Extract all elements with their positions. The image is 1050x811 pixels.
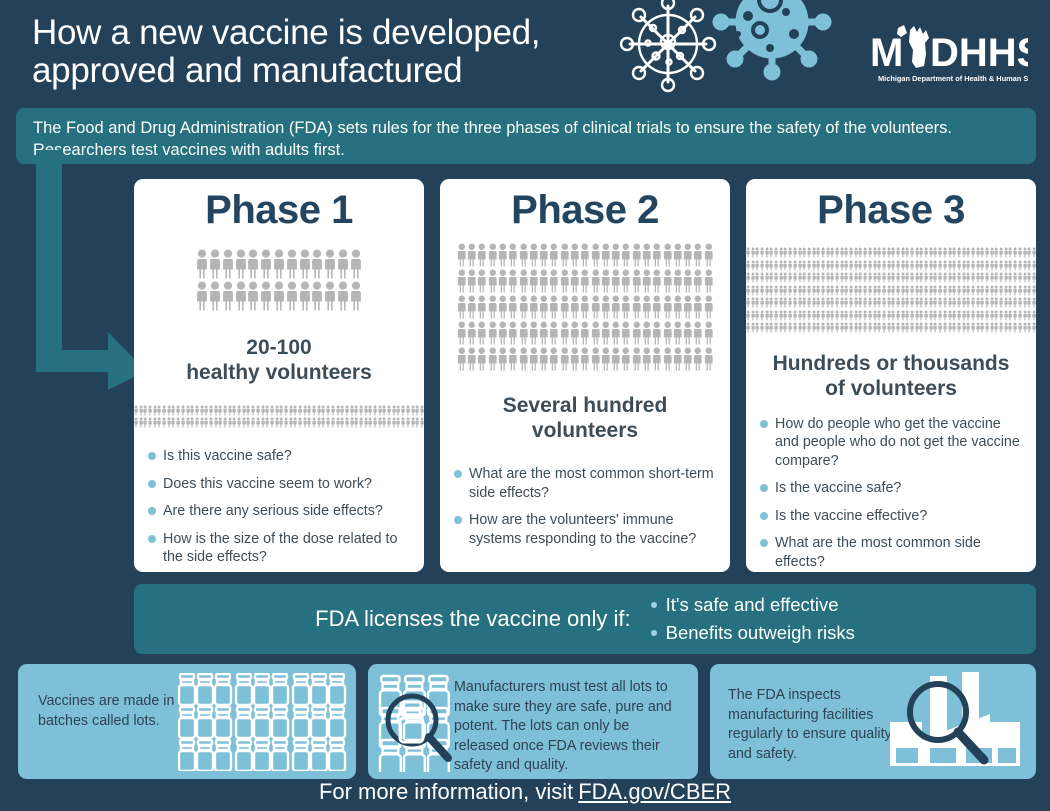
person-icon	[228, 405, 232, 416]
person-icon	[755, 247, 759, 258]
person-icon	[858, 285, 862, 296]
person-icon	[863, 272, 867, 283]
person-icon	[868, 297, 872, 308]
person-icon	[769, 310, 773, 321]
bullet-dot	[148, 480, 156, 488]
person-icon	[896, 260, 900, 271]
person-icon	[279, 417, 283, 428]
person-icon	[783, 247, 787, 258]
person-icon	[1004, 260, 1008, 271]
person-icon	[919, 322, 923, 333]
person-icon	[457, 243, 467, 267]
person-icon	[340, 417, 344, 428]
person-icon	[157, 417, 161, 428]
phase-3-people-figures	[746, 247, 1036, 335]
person-icon	[783, 322, 787, 333]
person-icon	[256, 417, 260, 428]
person-icon	[1032, 310, 1036, 321]
person-icon	[275, 405, 279, 416]
person-icon	[260, 249, 272, 279]
person-icon	[807, 247, 811, 258]
person-icon	[519, 347, 529, 371]
person-icon	[477, 347, 487, 371]
person-icon	[760, 272, 764, 283]
person-icon	[368, 405, 372, 416]
person-icon	[218, 417, 222, 428]
person-icon	[760, 310, 764, 321]
person-icon	[270, 417, 274, 428]
person-icon	[222, 281, 234, 311]
person-icon	[498, 243, 508, 267]
person-icon	[683, 269, 693, 293]
person-icon	[755, 285, 759, 296]
phase-3-count-line1: Hundreds or thousands	[773, 352, 1010, 375]
person-icon	[488, 295, 498, 319]
person-icon	[396, 405, 400, 416]
person-icon	[952, 310, 956, 321]
person-icon	[336, 405, 340, 416]
person-icon	[378, 405, 382, 416]
person-icon	[1004, 322, 1008, 333]
person-icon	[652, 243, 662, 267]
person-icon	[980, 310, 984, 321]
person-icon	[821, 272, 825, 283]
person-icon	[632, 269, 642, 293]
phase-card-1[interactable]: Phase 1 20-100 healthy volunteers Is thi…	[134, 179, 424, 572]
person-icon	[1013, 247, 1017, 258]
people-row	[134, 405, 424, 416]
person-icon	[704, 295, 714, 319]
person-icon	[1004, 310, 1008, 321]
vial-icon	[254, 707, 270, 738]
person-icon	[134, 417, 138, 428]
person-icon	[863, 297, 867, 308]
person-icon	[235, 281, 247, 311]
person-icon	[999, 247, 1003, 258]
person-icon	[580, 243, 590, 267]
fda-cber-link[interactable]: FDA.gov/CBER	[578, 779, 731, 804]
person-icon	[181, 417, 185, 428]
person-icon	[962, 297, 966, 308]
person-icon	[788, 285, 792, 296]
phase-2-count: Several hundred volunteers	[440, 393, 730, 443]
vial-icon	[236, 707, 252, 738]
phase-2-count-line2: volunteers	[532, 419, 638, 442]
vial-icon	[215, 740, 231, 771]
person-icon	[760, 247, 764, 258]
person-icon	[962, 322, 966, 333]
people-row	[746, 285, 1036, 296]
vial-icon	[329, 674, 345, 705]
person-icon	[821, 285, 825, 296]
person-icon	[957, 272, 961, 283]
person-icon	[519, 269, 529, 293]
person-icon	[549, 347, 559, 371]
person-icon	[807, 310, 811, 321]
person-icon	[498, 269, 508, 293]
person-icon	[1032, 285, 1036, 296]
header: How a new vaccine is developed, approved…	[0, 0, 1050, 104]
person-icon	[176, 405, 180, 416]
person-icon	[683, 347, 693, 371]
person-icon	[228, 417, 232, 428]
phase-1-count-line2: healthy volunteers	[186, 361, 372, 384]
person-icon	[1023, 322, 1027, 333]
person-icon	[570, 295, 580, 319]
person-icon	[873, 297, 877, 308]
person-icon	[1008, 285, 1012, 296]
person-icon	[632, 295, 642, 319]
vial-icon	[254, 740, 270, 771]
vial-icon	[329, 740, 345, 771]
person-icon	[882, 272, 886, 283]
person-icon	[143, 417, 147, 428]
person-icon	[260, 281, 272, 311]
person-icon	[196, 281, 208, 311]
person-icon	[488, 243, 498, 267]
person-icon	[924, 272, 928, 283]
person-icon	[938, 285, 942, 296]
person-icon	[882, 247, 886, 258]
phase-3-count: Hundreds or thousands of volunteers	[746, 351, 1036, 401]
bullet-dot	[760, 420, 768, 428]
person-icon	[798, 297, 802, 308]
person-icon	[345, 405, 349, 416]
person-icon	[222, 249, 234, 279]
license-item-text: Benefits outweigh risks	[666, 621, 855, 645]
person-icon	[812, 247, 816, 258]
person-icon	[887, 322, 891, 333]
person-icon	[840, 310, 844, 321]
person-icon	[985, 285, 989, 296]
person-icon	[293, 417, 297, 428]
person-icon	[539, 243, 549, 267]
person-icon	[580, 347, 590, 371]
person-icon	[952, 272, 956, 283]
person-icon	[844, 297, 848, 308]
person-icon	[519, 321, 529, 345]
person-icon	[406, 417, 410, 428]
person-icon	[957, 322, 961, 333]
person-icon	[779, 260, 783, 271]
people-row	[456, 295, 713, 319]
person-icon	[952, 322, 956, 333]
person-icon	[962, 310, 966, 321]
person-icon	[943, 322, 947, 333]
virus-graphics	[620, 0, 840, 106]
person-icon	[840, 260, 844, 271]
person-icon	[873, 260, 877, 271]
person-icon	[755, 297, 759, 308]
person-icon	[840, 247, 844, 258]
person-icon	[642, 269, 652, 293]
person-icon	[854, 285, 858, 296]
person-icon	[270, 405, 274, 416]
person-icon	[321, 417, 325, 428]
person-icon	[560, 295, 570, 319]
person-icon	[971, 322, 975, 333]
person-icon	[242, 417, 246, 428]
person-icon	[779, 247, 783, 258]
person-icon	[350, 417, 354, 428]
person-icon	[683, 295, 693, 319]
person-icon	[793, 285, 797, 296]
person-icon	[704, 321, 714, 345]
vial-icon	[254, 674, 270, 705]
person-icon	[387, 417, 391, 428]
person-icon	[994, 297, 998, 308]
person-icon	[652, 347, 662, 371]
person-icon	[1027, 297, 1031, 308]
person-icon	[378, 417, 382, 428]
bullet-item: Does this vaccine seem to work?	[148, 475, 410, 494]
person-icon	[844, 272, 848, 283]
people-row	[746, 260, 1036, 271]
person-icon	[340, 405, 344, 416]
person-icon	[467, 295, 477, 319]
person-icon	[948, 285, 952, 296]
vial-icon	[293, 740, 309, 771]
person-icon	[396, 417, 400, 428]
person-icon	[251, 405, 255, 416]
person-icon	[237, 405, 241, 416]
person-icon	[854, 310, 858, 321]
person-icon	[299, 281, 311, 311]
person-icon	[1027, 285, 1031, 296]
person-icon	[746, 247, 750, 258]
person-icon	[779, 322, 783, 333]
person-icon	[966, 260, 970, 271]
person-icon	[999, 322, 1003, 333]
person-icon	[976, 247, 980, 258]
person-icon	[919, 260, 923, 271]
person-icon	[999, 272, 1003, 283]
person-icon	[774, 247, 778, 258]
person-icon	[826, 322, 830, 333]
person-icon	[223, 417, 227, 428]
person-icon	[539, 269, 549, 293]
person-icon	[382, 405, 386, 416]
phase-2-title: Phase 2	[440, 188, 730, 233]
person-icon	[957, 247, 961, 258]
bullet-text: How do people who get the vaccine and pe…	[775, 415, 1022, 471]
person-icon	[601, 243, 611, 267]
manufacturing-box-inspection[interactable]: The FDA inspects manufacturing facilitie…	[710, 664, 1036, 779]
person-icon	[467, 243, 477, 267]
person-icon	[915, 310, 919, 321]
person-icon	[868, 322, 872, 333]
person-icon	[751, 322, 755, 333]
person-icon	[286, 249, 298, 279]
person-icon	[910, 247, 914, 258]
person-icon	[364, 405, 368, 416]
person-icon	[891, 322, 895, 333]
person-icon	[877, 297, 881, 308]
person-icon	[915, 247, 919, 258]
person-icon	[877, 285, 881, 296]
person-icon	[976, 297, 980, 308]
person-icon	[237, 417, 241, 428]
person-icon	[1013, 285, 1017, 296]
factory-magnifier-icon	[886, 670, 1028, 773]
person-icon	[854, 272, 858, 283]
person-icon	[765, 247, 769, 258]
person-icon	[929, 247, 933, 258]
person-icon	[200, 417, 204, 428]
person-icon	[196, 249, 208, 279]
person-icon	[896, 285, 900, 296]
person-icon	[933, 310, 937, 321]
person-icon	[411, 417, 415, 428]
vial-icon	[179, 674, 195, 705]
person-icon	[508, 243, 518, 267]
person-icon	[990, 260, 994, 271]
vial-icon	[272, 674, 288, 705]
person-icon	[919, 297, 923, 308]
person-icon	[994, 260, 998, 271]
person-icon	[887, 247, 891, 258]
person-icon	[673, 321, 683, 345]
person-icon	[774, 322, 778, 333]
person-icon	[826, 285, 830, 296]
person-icon	[943, 247, 947, 258]
person-icon	[769, 297, 773, 308]
person-icon	[317, 417, 321, 428]
person-icon	[307, 417, 311, 428]
person-icon	[976, 285, 980, 296]
person-icon	[835, 322, 839, 333]
person-icon	[948, 247, 952, 258]
phase-card-2[interactable]: Phase 2 Several hundred volunteers What …	[440, 179, 730, 572]
person-icon	[350, 281, 362, 311]
person-icon	[901, 272, 905, 283]
phase-3-count-line2: of volunteers	[825, 377, 957, 400]
person-icon	[200, 405, 204, 416]
person-icon	[167, 417, 171, 428]
person-icon	[830, 322, 834, 333]
vial-icon	[197, 707, 213, 738]
person-icon	[985, 272, 989, 283]
person-icon	[966, 247, 970, 258]
person-icon	[1013, 310, 1017, 321]
person-icon	[812, 272, 816, 283]
person-icon	[204, 405, 208, 416]
person-icon	[746, 272, 750, 283]
person-icon	[508, 321, 518, 345]
person-icon	[788, 272, 792, 283]
person-icon	[835, 285, 839, 296]
person-icon	[919, 285, 923, 296]
person-icon	[1018, 310, 1022, 321]
person-icon	[990, 297, 994, 308]
bullet-item: What are the most common side effects?	[760, 534, 1022, 571]
person-icon	[632, 243, 642, 267]
person-icon	[312, 405, 316, 416]
person-icon	[952, 247, 956, 258]
person-icon	[905, 272, 909, 283]
bullet-text: Is the vaccine safe?	[775, 479, 901, 498]
person-icon	[406, 405, 410, 416]
bullet-text: Is the vaccine effective?	[775, 507, 927, 526]
vial-icon	[236, 674, 252, 705]
person-icon	[980, 322, 984, 333]
person-icon	[331, 417, 335, 428]
person-icon	[943, 310, 947, 321]
person-icon	[457, 295, 467, 319]
phase-card-3[interactable]: Phase 3 Hundreds or thousands of volunte…	[746, 179, 1036, 572]
person-icon	[1032, 247, 1036, 258]
infographic-page: How a new vaccine is developed, approved…	[0, 0, 1050, 811]
person-icon	[793, 322, 797, 333]
person-icon	[849, 285, 853, 296]
bullet-text: Are there any serious side effects?	[163, 502, 383, 521]
person-icon	[621, 269, 631, 293]
person-icon	[190, 405, 194, 416]
person-icon	[242, 405, 246, 416]
person-icon	[858, 247, 862, 258]
person-icon	[938, 272, 942, 283]
person-icon	[830, 310, 834, 321]
manufacturing-box-testing[interactable]: Manufacturers must test all lots to make…	[368, 664, 698, 779]
page-title-line1: How a new vaccine is developed,	[32, 13, 540, 52]
person-icon	[663, 295, 673, 319]
person-icon	[915, 285, 919, 296]
person-icon	[299, 249, 311, 279]
person-icon	[311, 281, 323, 311]
person-icon	[840, 272, 844, 283]
person-icon	[844, 260, 848, 271]
person-icon	[971, 260, 975, 271]
person-icon	[849, 322, 853, 333]
person-icon	[779, 297, 783, 308]
person-icon	[840, 297, 844, 308]
person-icon	[774, 285, 778, 296]
phase-1-people-figures	[134, 249, 424, 313]
person-icon	[929, 260, 933, 271]
person-icon	[508, 269, 518, 293]
person-icon	[910, 272, 914, 283]
person-icon	[1023, 310, 1027, 321]
vial-icon	[311, 740, 327, 771]
bullet-item: How is the size of the dose related to t…	[148, 530, 410, 567]
person-icon	[962, 272, 966, 283]
people-row	[196, 249, 362, 279]
bullet-dot	[454, 516, 462, 524]
person-icon	[788, 247, 792, 258]
person-icon	[420, 405, 424, 416]
person-icon	[798, 285, 802, 296]
person-icon	[611, 243, 621, 267]
person-icon	[802, 260, 806, 271]
person-icon	[816, 272, 820, 283]
person-icon	[580, 269, 590, 293]
vial-icon	[293, 707, 309, 738]
mdhhs-logo: M DHHS Michigan Department of Health & H…	[868, 24, 1028, 86]
person-icon	[642, 347, 652, 371]
person-icon	[642, 243, 652, 267]
person-icon	[261, 417, 265, 428]
manufacturing-box-batches[interactable]: Vaccines are made in batches called lots…	[18, 664, 356, 779]
person-icon	[948, 297, 952, 308]
person-icon	[209, 405, 213, 416]
person-icon	[652, 295, 662, 319]
license-bullet-dot	[651, 630, 657, 636]
person-icon	[896, 247, 900, 258]
person-icon	[632, 321, 642, 345]
person-icon	[1008, 272, 1012, 283]
person-icon	[769, 247, 773, 258]
person-icon	[751, 272, 755, 283]
